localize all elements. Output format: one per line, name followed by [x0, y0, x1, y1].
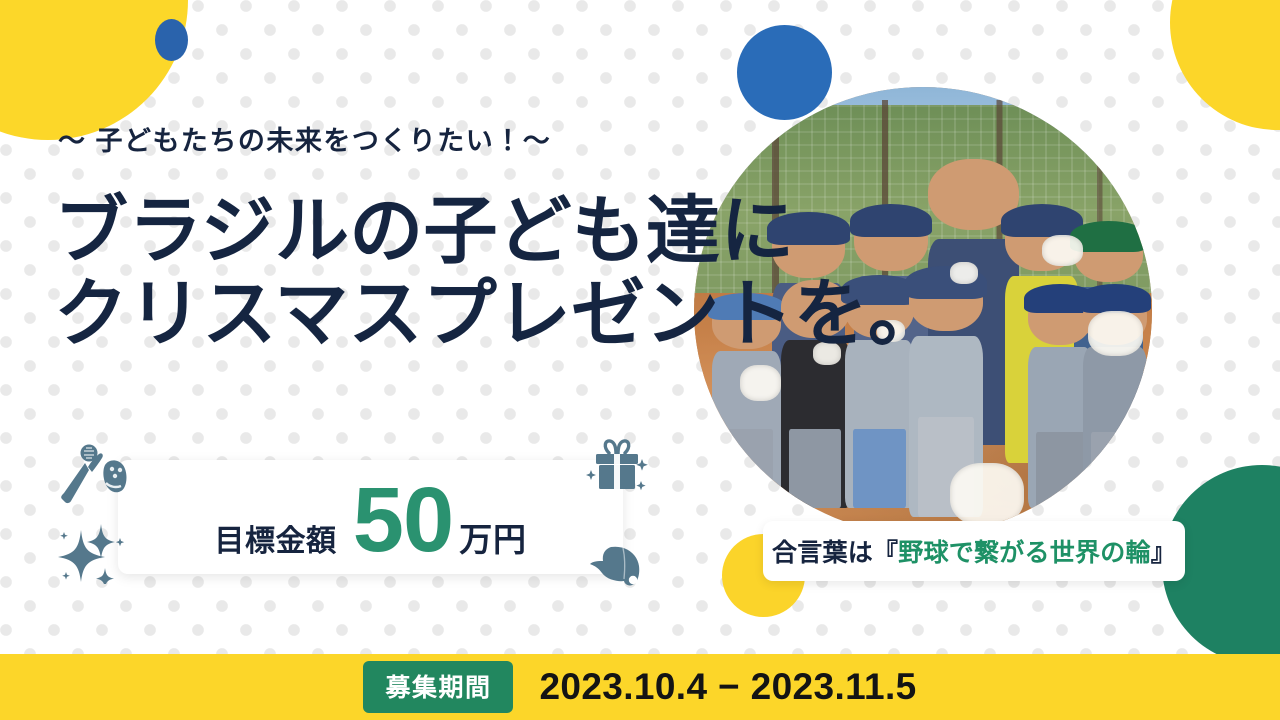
goal-amount-box: 目標金額 50 万円: [118, 460, 623, 574]
headline-line-2: クリスマスプレゼントを。: [54, 273, 754, 356]
page-title: ブラジルの子ども達に クリスマスプレゼントを。: [54, 190, 754, 356]
baseball-bat-glove-icon: [58, 443, 128, 505]
slogan-highlight: 野球で繋がる世界の輪: [898, 539, 1151, 567]
batting-helmet-icon: [589, 543, 647, 591]
slogan-suffix: 』: [1151, 539, 1176, 567]
tagline: 〜 子どもたちの未来をつくりたい！〜: [58, 119, 698, 158]
photo-ball-bag: [950, 463, 1023, 526]
photo-ball-bag: [1088, 311, 1143, 356]
slogan-text: 合言葉は『野球で繋がる世界の輪』: [772, 533, 1176, 569]
slogan-box: 合言葉は『野球で繋がる世界の輪』: [763, 521, 1185, 581]
period-dates: 2023.10.4 − 2023.11.5: [539, 666, 916, 708]
decor-dot-blue-top-left: [155, 19, 188, 61]
headline-line-1: ブラジルの子ども達に: [54, 190, 754, 273]
campaign-banner: 〜 子どもたちの未来をつくりたい！〜 ブラジルの子ども達に クリスマスプレゼント…: [0, 0, 1280, 720]
photo-baseball: [740, 365, 781, 401]
sparkles-icon: [55, 512, 135, 584]
period-bar: 募集期間 2023.10.4 − 2023.11.5: [0, 654, 1280, 720]
photo-baseball: [950, 262, 977, 284]
goal-label: 目標金額: [214, 516, 336, 560]
period-badge: 募集期間: [363, 661, 513, 713]
slogan-prefix: 合言葉は『: [772, 539, 898, 567]
photo-baseball: [1042, 235, 1083, 266]
goal-unit: 万円: [459, 513, 526, 561]
decor-circle-yellow-top-right: [1170, 0, 1280, 130]
gift-icon: [585, 437, 649, 499]
goal-amount: 50: [353, 481, 454, 559]
